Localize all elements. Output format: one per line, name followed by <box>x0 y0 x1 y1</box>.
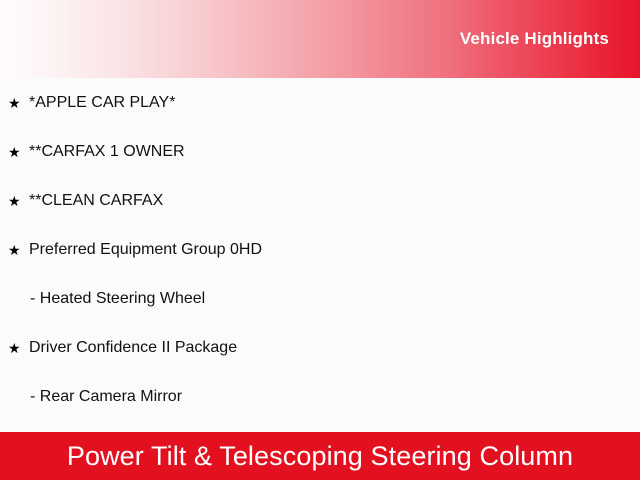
list-item-label: *APPLE CAR PLAY* <box>29 93 175 112</box>
list-item: ★ *APPLE CAR PLAY* <box>0 78 640 127</box>
list-item-label: Driver Confidence II Package <box>29 338 237 357</box>
list-item: ★ **CARFAX 1 OWNER <box>0 127 640 176</box>
highlights-list: ★ *APPLE CAR PLAY* ★ **CARFAX 1 OWNER ★ … <box>0 78 640 421</box>
list-item-label: **CLEAN CARFAX <box>29 191 163 210</box>
star-icon: ★ <box>8 96 29 110</box>
footer-banner-label: Power Tilt & Telescoping Steering Column <box>67 441 573 471</box>
star-icon: ★ <box>8 145 29 159</box>
star-icon: ★ <box>8 243 29 257</box>
list-item: ★ Driver Confidence II Package <box>0 323 640 372</box>
list-item-label: Preferred Equipment Group 0HD <box>29 240 262 259</box>
highlights-content: ★ *APPLE CAR PLAY* ★ **CARFAX 1 OWNER ★ … <box>0 78 640 480</box>
page-title: Vehicle Highlights <box>460 29 609 49</box>
vehicle-highlights-slide: Vehicle Highlights ★ *APPLE CAR PLAY* ★ … <box>0 0 640 480</box>
footer-banner: Power Tilt & Telescoping Steering Column <box>0 432 640 480</box>
list-item-label: - Heated Steering Wheel <box>30 289 205 308</box>
list-item-label: - Rear Camera Mirror <box>30 387 182 406</box>
star-icon: ★ <box>8 194 29 208</box>
list-item: ★ Preferred Equipment Group 0HD <box>0 225 640 274</box>
star-icon: ★ <box>8 341 29 355</box>
list-item-sub: - Rear Camera Mirror <box>0 372 640 421</box>
header-banner: Vehicle Highlights <box>0 0 640 78</box>
list-item-sub: - Heated Steering Wheel <box>0 274 640 323</box>
list-item-label: **CARFAX 1 OWNER <box>29 142 185 161</box>
list-item: ★ **CLEAN CARFAX <box>0 176 640 225</box>
